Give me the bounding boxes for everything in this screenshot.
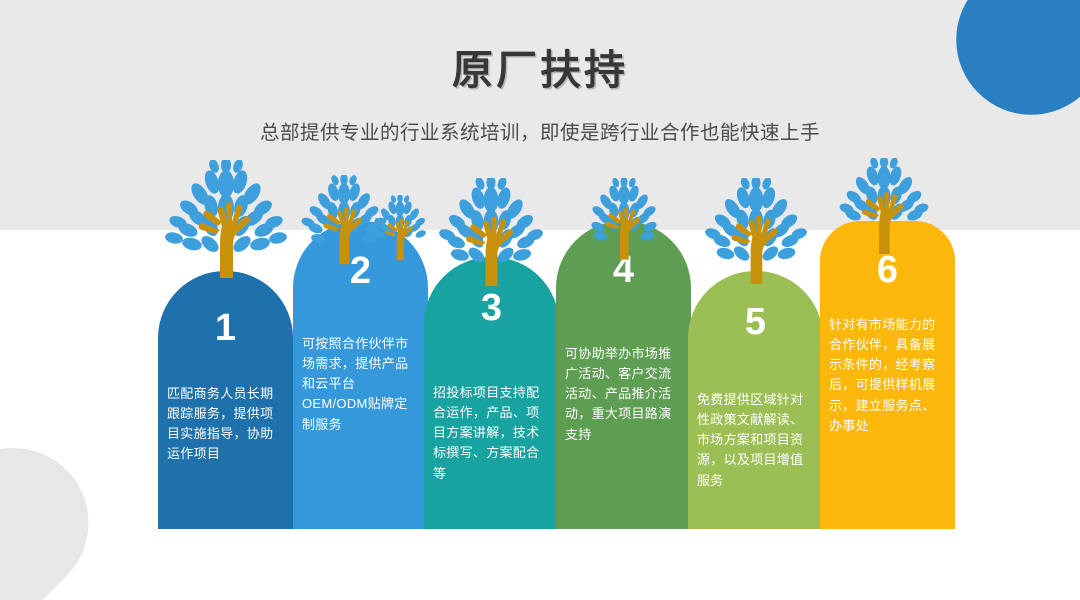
- pillar-2-text: 可按照合作伙伴市场需求，提供产品和云平台OEM/ODM贴牌定制服务: [293, 334, 428, 435]
- pillar-4-text: 可协助举办市场推广活动、客户交流活动、产品推介活动，重大项目路演支持: [556, 344, 691, 445]
- pillar-3-text: 招投标项目支持配合运作，产品、项目方案讲解，技术标撰写、方案配合等: [424, 383, 559, 484]
- pillar-6-text: 针对有市场能力的合作伙伴，具备展示条件的，经考察后，可提供样机展示，建立服务点、…: [820, 315, 955, 436]
- hand-tree-icon-2b: [365, 195, 435, 261]
- pillar-3-body: 3 招投标项目支持配合运作，产品、项目方案讲解，技术标撰写、方案配合等: [424, 257, 559, 529]
- pillar-3-number: 3: [424, 289, 559, 327]
- pillar-1-text: 匹配商务人员长期跟踪服务，提供项目实施指导，协助运作项目: [158, 384, 293, 465]
- pillar-5-number: 5: [688, 303, 823, 341]
- pillar-5-text: 免费提供区域针对性政策文献解读、市场方案和项目资源，以及项目增值服务: [688, 390, 823, 491]
- pillar-5-body: 5 免费提供区域针对性政策文献解读、市场方案和项目资源，以及项目增值服务: [688, 271, 823, 529]
- hand-tree-icon-1: [162, 160, 290, 278]
- pillar-1-number: 1: [158, 309, 293, 347]
- pillar-3[interactable]: 3 招投标项目支持配合运作，产品、项目方案讲解，技术标撰写、方案配合等: [424, 257, 559, 529]
- pillar-2-body: 2 可按照合作伙伴市场需求，提供产品和云平台OEM/ODM贴牌定制服务: [293, 221, 428, 529]
- hand-tree-icon-3: [432, 178, 550, 286]
- pillar-1[interactable]: 1 匹配商务人员长期跟踪服务，提供项目实施指导，协助运作项目: [158, 271, 293, 529]
- pillar-6-number: 6: [820, 251, 955, 289]
- pillar-5[interactable]: 5 免费提供区域针对性政策文献解读、市场方案和项目资源，以及项目增值服务: [688, 271, 823, 529]
- slide-canvas: 原厂扶持 总部提供专业的行业系统培训，即使是跨行业合作也能快速上手 1 匹配商务…: [0, 0, 1080, 600]
- hand-tree-icon-5: [698, 178, 814, 284]
- pillar-1-body: 1 匹配商务人员长期跟踪服务，提供项目实施指导，协助运作项目: [158, 271, 293, 529]
- pillar-4[interactable]: 4 可协助举办市场推广活动、客户交流活动、产品推介活动，重大项目路演支持: [556, 221, 691, 529]
- pillar-6-body: 6 针对有市场能力的合作伙伴，具备展示条件的，经考察后，可提供样机展示，建立服务…: [820, 221, 955, 529]
- hand-tree-icon-6: [832, 158, 936, 254]
- hand-tree-icon-4: [580, 178, 668, 260]
- pillar-chart: 1 匹配商务人员长期跟踪服务，提供项目实施指导，协助运作项目 2 可按照合作伙伴…: [0, 0, 1080, 600]
- pillar-4-body: 4 可协助举办市场推广活动、客户交流活动、产品推介活动，重大项目路演支持: [556, 221, 691, 529]
- pillar-2[interactable]: 2 可按照合作伙伴市场需求，提供产品和云平台OEM/ODM贴牌定制服务: [293, 221, 428, 529]
- pillar-6[interactable]: 6 针对有市场能力的合作伙伴，具备展示条件的，经考察后，可提供样机展示，建立服务…: [820, 221, 955, 529]
